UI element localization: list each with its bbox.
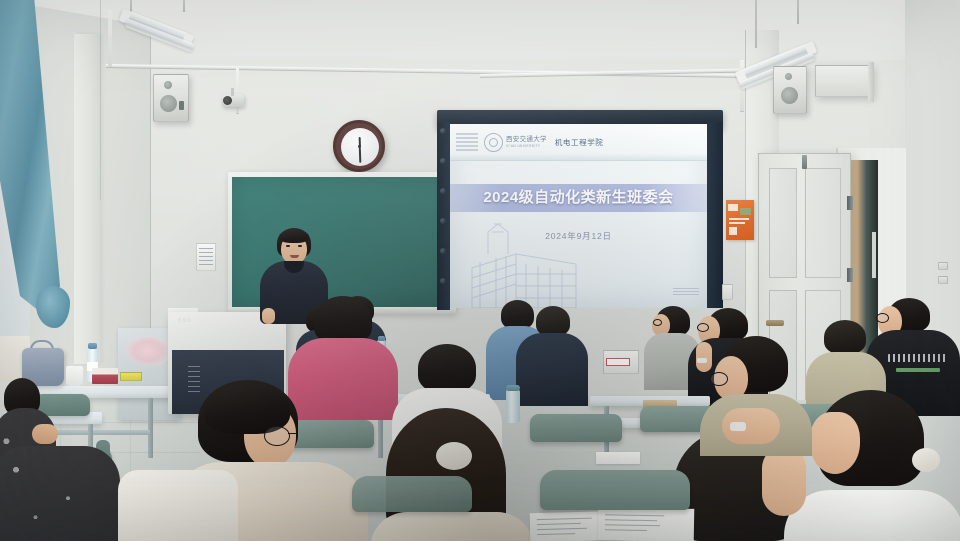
camera-mount [231,88,234,96]
glasses [697,323,709,332]
speaker-knob [179,101,184,110]
wall-speaker-left [153,74,189,122]
wall-seam-upper [100,0,101,200]
presenter-fringe [279,230,309,243]
slide-university-name: 西安交通大学 XI'AN UNIVERSITY [506,136,547,148]
glasses-bridge [288,433,296,434]
wall-speaker-right [773,66,807,114]
wall-conduit-left-vertical [108,10,112,68]
head [810,412,860,474]
door-hinge [847,196,853,210]
hair [418,344,476,392]
wall-notice [196,243,216,271]
poster-text-line [729,218,749,220]
poster-white-block [729,227,737,235]
left-wall-pillar [74,34,100,364]
torso [784,490,960,541]
hair-tie [912,448,940,472]
poster-green-block [740,208,751,215]
bottle-cap [88,343,97,349]
screen-stud [440,218,446,224]
clock-hour-hand [359,136,361,147]
glasses [710,372,728,386]
university-name-cn: 西安交通大学 [506,136,547,144]
tee-print-pattern [888,354,948,362]
cabinet-label [120,372,142,381]
door-panel-upper [769,168,797,278]
university-logo-icon [484,133,503,152]
snack-box [92,368,118,384]
presenter-hand [262,308,275,324]
university-name-en: XI'AN UNIVERSITY [506,144,547,148]
screen-stud [440,128,446,134]
hair [536,306,570,336]
handout-paper-right [598,507,695,541]
screen-stud [440,248,446,254]
speaker-tweeter [164,81,172,89]
audience-member-tank-top [700,336,812,456]
slide-header: 西安交通大学 XI'AN UNIVERSITY 机电工程学院 [450,124,707,161]
air-conditioner [815,65,873,97]
chair-back-front-left [352,476,472,512]
screen-stud [440,188,446,194]
corridor-light [872,232,876,278]
speaker-tweeter [785,73,792,80]
light-rod-right-1 [797,0,799,24]
camera-lens [223,96,232,105]
slide-date: 2024年9月12日 [450,230,707,242]
screen-right-edge [707,122,723,308]
door-panel-upper-right [805,168,841,278]
audience-member-front-left-dark [0,446,120,541]
wall-clock [333,120,385,172]
slide-decor-bars [456,133,478,152]
orange-wall-poster [726,200,754,240]
hair [314,296,372,344]
speaker-cone [781,87,798,104]
classroom-photo: 西安交通大学 XI'AN UNIVERSITY 机电工程学院 2024级自动化类… [0,0,960,541]
arm [762,446,806,516]
torso [516,333,588,406]
torso [0,446,120,541]
clock-minute-hand [359,147,361,162]
slide-college-name: 机电工程学院 [555,137,604,148]
light-rod-right-2 [755,0,757,48]
chair-back-front-center [540,470,690,510]
hair [824,320,866,354]
screen-stud [440,158,446,164]
wristwatch [730,422,746,431]
door-handle[interactable] [766,320,784,326]
glasses [264,426,290,446]
presenter-eye [298,245,302,247]
door-hinge [847,268,853,282]
poster-white-block [728,204,738,211]
speaker-cone [160,95,177,112]
paper-cup [66,366,83,386]
screen-stud [440,278,446,284]
presenter-eye [286,245,290,247]
slide-corner-marks [673,288,699,296]
desk-leg [148,398,153,458]
audience-member-navy [516,306,588,406]
projection-screen: 西安交通大学 XI'AN UNIVERSITY 机电工程学院 2024级自动化类… [450,124,707,308]
wall-outlet[interactable] [938,262,948,270]
tumbler-cap [506,385,520,391]
glasses [653,319,662,326]
slide-title: 2024级自动化类新生班委会 [450,186,707,207]
audience-member-ponytail [790,390,960,541]
chair-back-mid-2 [530,414,622,442]
poster-text-line [729,222,745,224]
door-lock[interactable] [802,155,807,169]
hair-scrunchie [436,442,472,470]
wall-outlet[interactable] [938,276,948,284]
wall-conduit-branch [236,68,239,114]
light-rod-left-2 [183,0,185,12]
paper-on-mid-desk [596,452,640,464]
tee-print-accent [896,368,940,372]
arm [32,424,58,444]
light-switch-panel[interactable] [722,284,733,300]
white-cloth-bottom-left [118,470,238,541]
flower-bouquet [126,336,170,366]
laptop-sticker [606,358,630,366]
torso [370,512,534,541]
audience-member-scrunchie [378,408,526,541]
ac-bracket [868,62,874,102]
clock-face [341,128,379,166]
lectern-logo: ◌◌◌ [178,318,192,324]
